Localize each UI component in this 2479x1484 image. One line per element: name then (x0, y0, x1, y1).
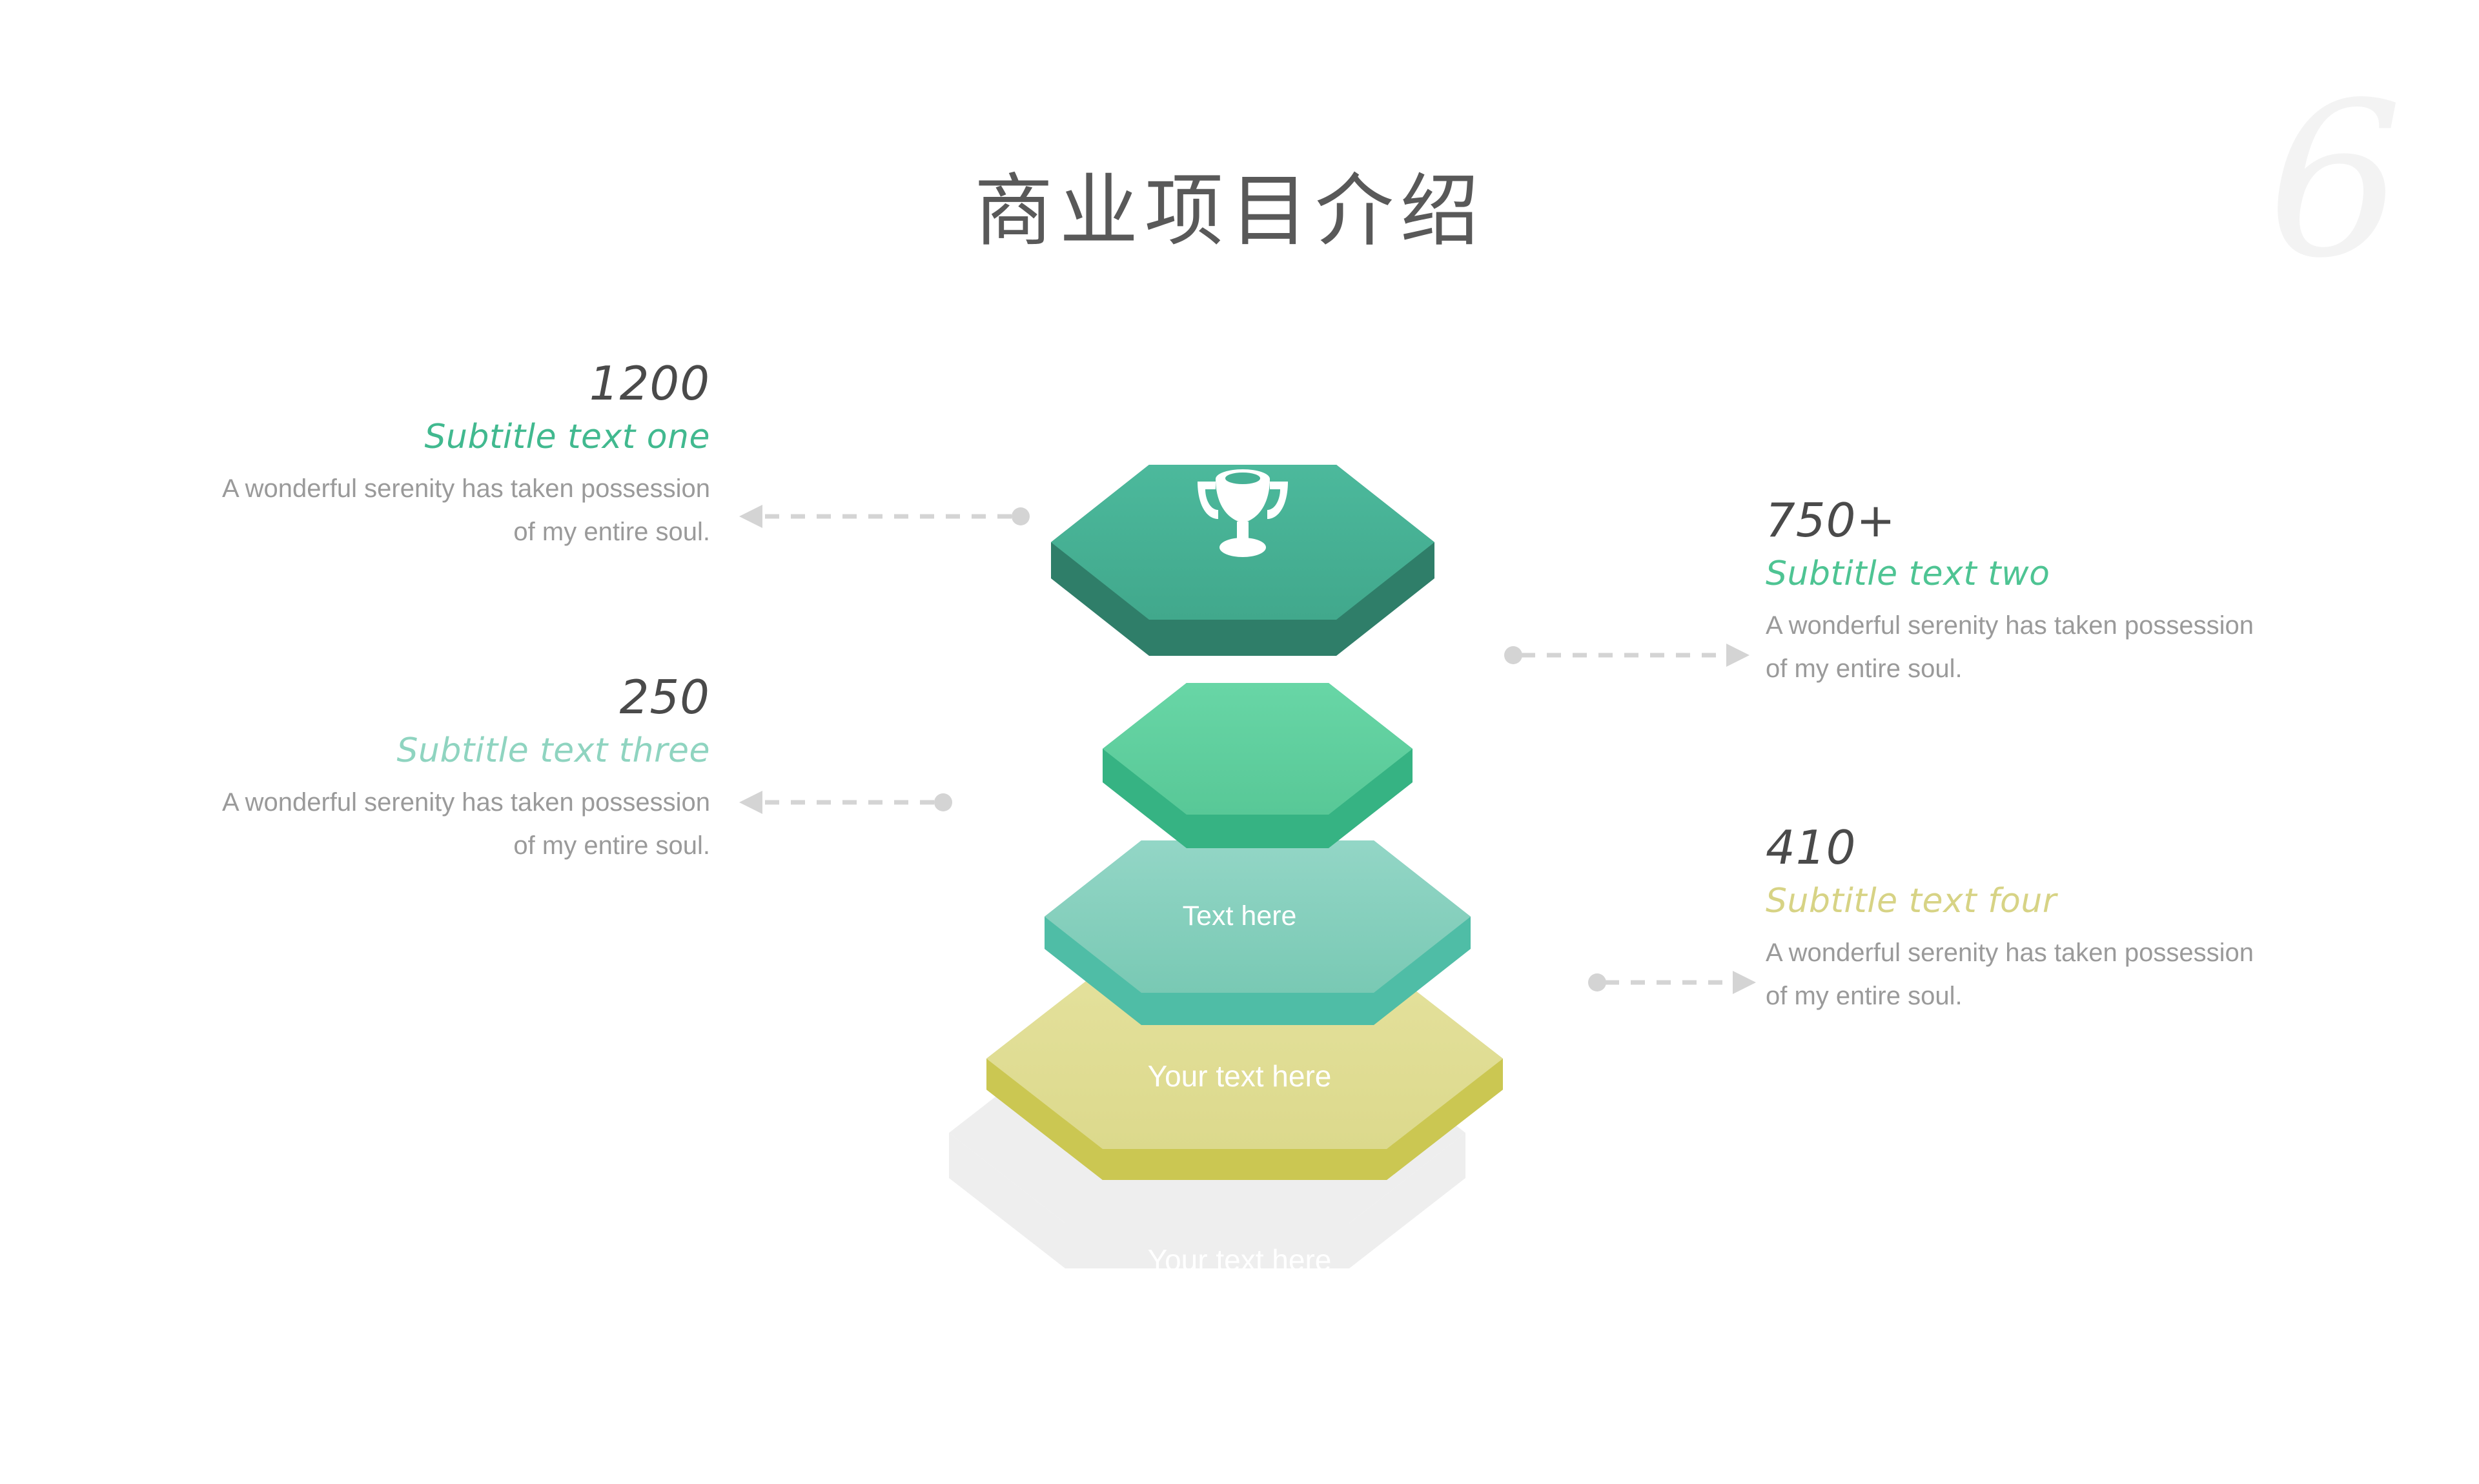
info-block-four: 410 Subtitle text four A wonderful seren… (1766, 823, 2301, 1018)
pyramid-layer-3[interactable] (1045, 840, 1471, 1025)
info-one-subtitle: Subtitle text one (174, 417, 710, 457)
arrow-right-icon (1733, 971, 1756, 994)
info-one-body-line1: A wonderful serenity has taken possessio… (174, 467, 710, 511)
info-four-subtitle: Subtitle text four (1766, 881, 2301, 921)
info-two-number: 750+ (1766, 496, 2301, 545)
connector-dot (1504, 646, 1522, 664)
info-block-three: 250 Subtitle text three A wonderful sere… (174, 673, 710, 868)
info-four-body-line1: A wonderful serenity has taken possessio… (1766, 931, 2301, 975)
pyramid-layer-4-label: Your text goes here (1111, 1449, 1367, 1484)
info-two-subtitle: Subtitle text two (1766, 554, 2301, 594)
info-three-subtitle: Subtitle text three (174, 731, 710, 771)
info-block-two: 750+ Subtitle text two A wonderful seren… (1766, 496, 2301, 691)
info-one-body-line2: of my entire soul. (174, 511, 710, 554)
info-block-one: 1200 Subtitle text one A wonderful seren… (174, 359, 710, 554)
connector-line-one (739, 497, 1030, 536)
hexagon-pyramid-diagram: Text here Your text here Your text here … (826, 349, 1666, 1304)
connector-line-four (1588, 963, 1756, 1002)
connector-dot (1588, 973, 1606, 991)
arrow-left-icon (739, 791, 762, 814)
info-four-body: A wonderful serenity has taken possessio… (1766, 931, 2301, 1018)
arrow-left-icon (739, 505, 762, 528)
info-two-body-line1: A wonderful serenity has taken possessio… (1766, 604, 2301, 647)
connector-line-three (739, 783, 952, 822)
connector-line-two (1504, 636, 1750, 675)
info-four-body-line2: of my entire soul. (1766, 975, 2301, 1018)
info-one-number: 1200 (174, 359, 710, 408)
info-one-body: A wonderful serenity has taken possessio… (174, 467, 710, 554)
connector-dot (934, 793, 952, 811)
page-title: 商业项目介绍 (0, 147, 2479, 261)
info-three-number: 250 (174, 673, 710, 722)
info-three-body: A wonderful serenity has taken possessio… (174, 781, 710, 868)
page-title-text: 商业项目介绍 (974, 147, 1485, 261)
info-three-body-line1: A wonderful serenity has taken possessio… (174, 781, 710, 824)
pyramid-svg (826, 349, 1666, 1304)
pyramid-layer-2[interactable] (1103, 683, 1413, 848)
info-four-number: 410 (1766, 823, 2301, 872)
info-three-body-line2: of my entire soul. (174, 824, 710, 868)
arrow-right-icon (1726, 644, 1750, 667)
info-two-body: A wonderful serenity has taken possessio… (1766, 604, 2301, 691)
info-two-body-line2: of my entire soul. (1766, 647, 2301, 691)
connector-dot (1012, 507, 1030, 525)
